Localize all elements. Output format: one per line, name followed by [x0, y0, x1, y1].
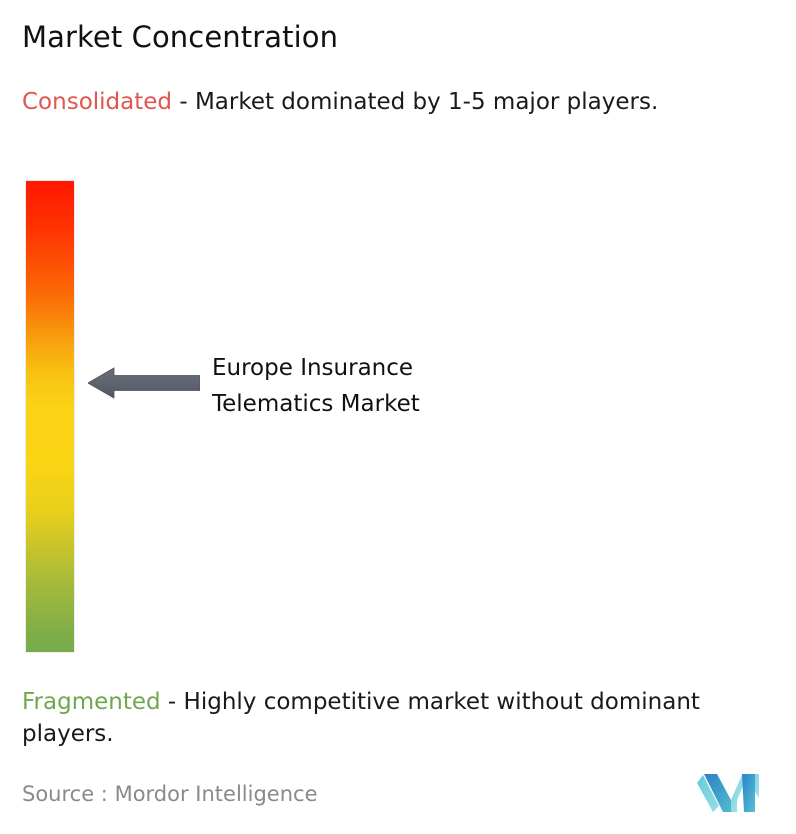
legend-fragmented-separator: - [161, 689, 184, 715]
legend-consolidated: Consolidated - Market dominated by 1-5 m… [22, 86, 770, 118]
marker-label-line-1: Europe Insurance [212, 350, 420, 386]
legend-fragmented: Fragmented - Highly competitive market w… [22, 686, 782, 750]
concentration-gradient-scale [26, 181, 74, 652]
marker-label: Europe Insurance Telematics Market [212, 350, 420, 422]
source-line: Source : Mordor Intelligence [22, 782, 317, 806]
source-value: Mordor Intelligence [115, 782, 318, 806]
legend-fragmented-keyword: Fragmented [22, 689, 161, 715]
legend-consolidated-keyword: Consolidated [22, 89, 172, 115]
mordor-intelligence-logo [697, 770, 771, 814]
source-label: Source : [22, 782, 108, 806]
marker-label-line-2: Telematics Market [212, 386, 420, 422]
market-concentration-infographic: Market Concentration Consolidated - Mark… [0, 0, 796, 834]
left-arrow-icon [88, 366, 200, 400]
legend-consolidated-description: Market dominated by 1-5 major players. [195, 89, 658, 115]
page-title: Market Concentration [22, 20, 338, 54]
legend-consolidated-separator: - [172, 89, 195, 115]
